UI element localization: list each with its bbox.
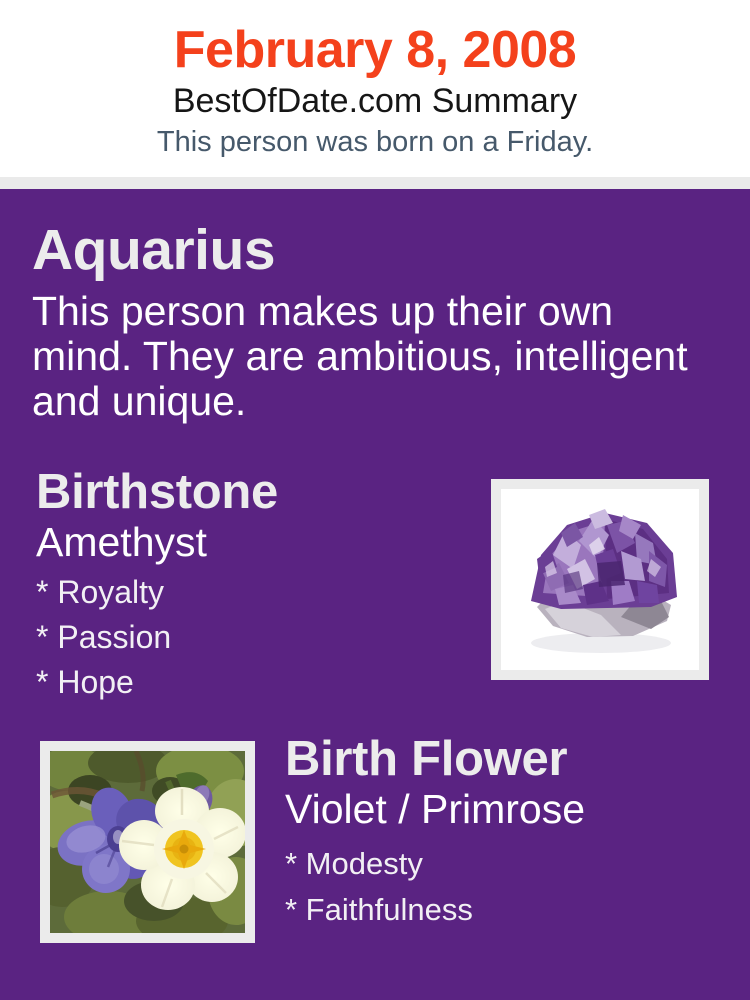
- zodiac-description: This person makes up their own mind. The…: [32, 279, 692, 424]
- site-name: BestOfDate.com Summary: [0, 78, 750, 120]
- list-item: * Royalty: [36, 570, 476, 615]
- birthflower-section: Birth Flower Violet / Primrose * Modesty…: [285, 735, 735, 933]
- amethyst-crystal-icon: [501, 489, 699, 670]
- summary-card: February 8, 2008 BestOfDate.com Summary …: [0, 0, 750, 1000]
- birthstone-trait-list: * Royalty * Passion * Hope: [36, 564, 476, 705]
- page-title-date: February 8, 2008: [0, 0, 750, 78]
- birthflower-name: Violet / Primrose: [285, 785, 735, 831]
- zodiac-sign-title: Aquarius: [32, 222, 692, 279]
- birthflower-photo-frame: [40, 741, 255, 943]
- birthstone-name: Amethyst: [36, 518, 476, 564]
- birthstone-text: Birthstone Amethyst * Royalty * Passion …: [36, 468, 476, 705]
- list-item: * Faithfulness: [285, 887, 735, 933]
- zodiac-section: Aquarius This person makes up their own …: [32, 222, 692, 424]
- list-item: * Hope: [36, 660, 476, 705]
- birth-day-note: This person was born on a Friday.: [0, 121, 750, 159]
- header-divider: [0, 177, 750, 189]
- birthstone-heading: Birthstone: [36, 468, 476, 518]
- birthflower-trait-list: * Modesty * Faithfulness: [285, 831, 735, 933]
- violet-primrose-flower-icon: [50, 751, 245, 933]
- birthflower-photo: [50, 751, 245, 933]
- birthstone-photo-frame: [491, 479, 709, 680]
- header: February 8, 2008 BestOfDate.com Summary …: [0, 0, 750, 177]
- list-item: * Passion: [36, 615, 476, 660]
- list-item: * Modesty: [285, 841, 735, 887]
- birthstone-photo: [501, 489, 699, 670]
- birthflower-heading: Birth Flower: [285, 735, 735, 785]
